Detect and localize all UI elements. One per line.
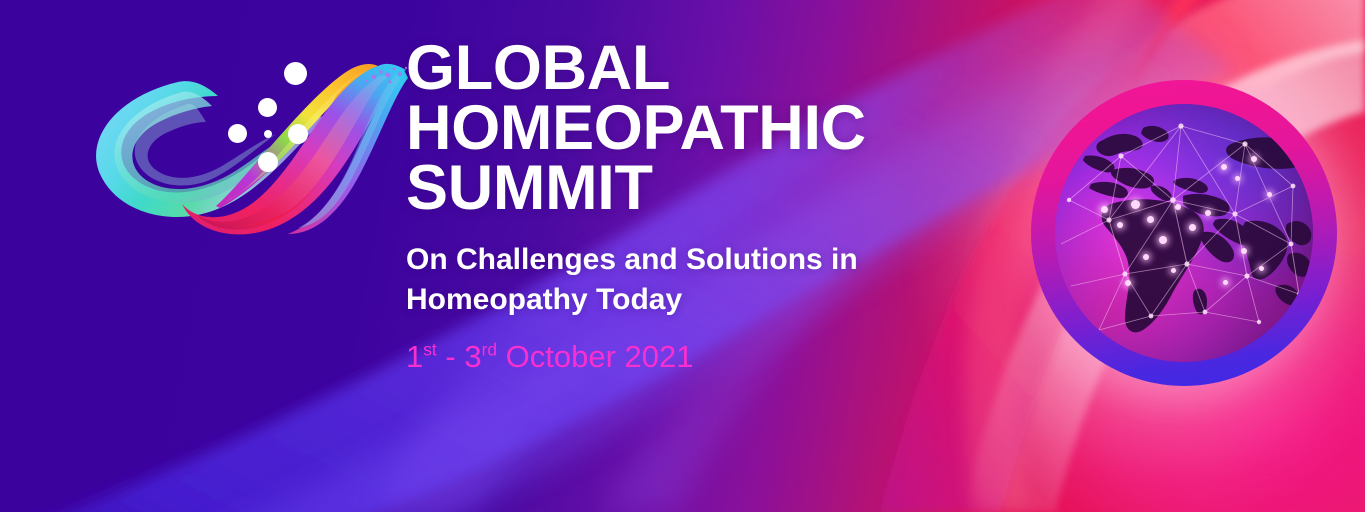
globe-glow-dot [1189,224,1196,231]
event-date: 1st - 3rd October 2021 [406,320,946,375]
globe-glow-dot [1171,268,1176,273]
globe-glow-dot [1175,204,1181,210]
globe-glow-dot [1259,266,1264,271]
date-start-day: 1 [406,339,423,374]
network-globe-graphic [1031,80,1337,386]
date-month-year: October 2021 [497,339,693,374]
globe-glow-dot [1235,176,1240,181]
date-start-ordinal: st [423,340,437,360]
event-banner: GLOBAL HOMEOPATHIC SUMMIT On Challenges … [0,0,1365,512]
logo-dot-large [284,62,307,85]
globe-glow-dot [1131,200,1140,209]
logo-dot-left [228,124,247,143]
globe-glow-dot [1117,222,1123,228]
globe-glow-dot [1241,248,1247,254]
date-end-day: 3 [464,339,481,374]
globe-glow-dot [1143,254,1149,260]
globe-glow-dot [1125,280,1131,286]
page-title-line-1: GLOBAL [406,38,946,98]
logo-dot-right [288,124,308,144]
logo-dot-bottom [258,152,278,172]
globe-glow-dot [1205,210,1211,216]
subtitle-line-2: Homeopathy Today [406,280,946,320]
subtitle-line-1: On Challenges and Solutions in [406,218,946,280]
logo-dot-center [264,130,272,138]
globe-glow-dot [1223,280,1228,285]
globe-glow-dot [1267,192,1272,197]
globe-glow-dot [1221,164,1227,170]
page-title-line-2: HOMEOPATHIC [406,98,946,158]
globe-network-mesh [1055,104,1313,362]
globe-glow-dot [1147,216,1154,223]
globe-sphere [1055,104,1313,362]
page-title-line-3: SUMMIT [406,158,946,218]
date-end-ordinal: rd [482,340,497,360]
globe-glow-dot [1101,206,1108,213]
infinity-ribbon-logo [78,22,408,258]
globe-glow-dot [1251,156,1257,162]
logo-dot-top [258,98,277,117]
date-separator: - [437,339,465,374]
banner-text-block: GLOBAL HOMEOPATHIC SUMMIT On Challenges … [406,38,946,375]
globe-glow-dot [1159,236,1167,244]
